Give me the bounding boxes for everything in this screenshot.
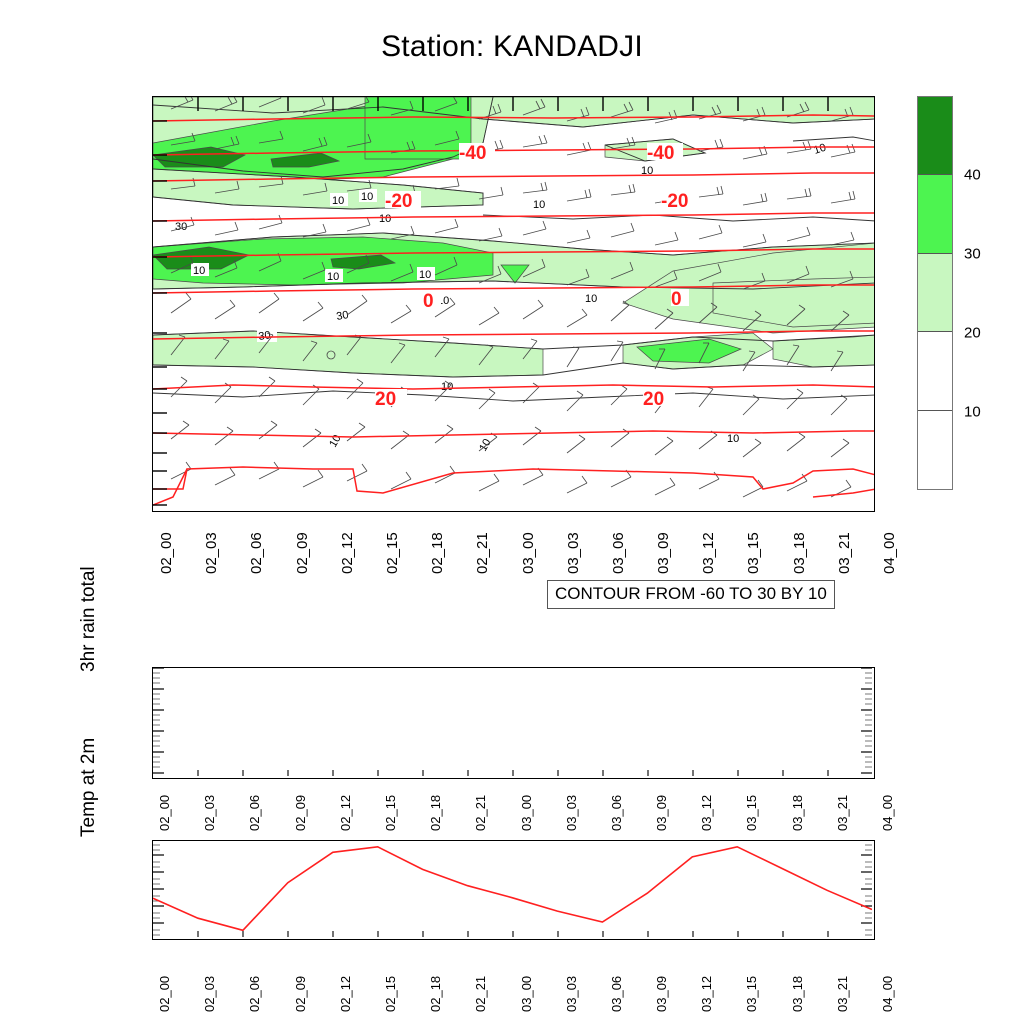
temp-2m-panel [152, 840, 875, 940]
rain-axis-title: 3hr rain total [78, 566, 100, 672]
svg-text:-40: -40 [459, 143, 486, 164]
temp-x-tick-label: 02_03 [202, 976, 217, 1012]
sounding-cross-section-panel: 30 30 30 10 10 10 10 10 10 [152, 96, 875, 512]
temp-x-tick-label: 03_00 [519, 976, 534, 1012]
rain-x-tick-label: 02_09 [293, 795, 308, 831]
page-title: Station: KANDADJI [0, 30, 1024, 64]
temp-x-tick-label: 02_21 [473, 976, 488, 1012]
main-x-tick-label: 03_15 [745, 532, 762, 574]
cross-section-plot-area: 30 30 30 10 10 10 10 10 10 [153, 97, 874, 511]
svg-text:-20: -20 [661, 191, 688, 212]
svg-text:30: 30 [335, 309, 349, 323]
temp-x-tick-label: 02_15 [383, 976, 398, 1012]
rain-x-tick-label: 03_12 [699, 795, 714, 831]
rain-right-minor-ticks [865, 673, 872, 767]
svg-text:30: 30 [258, 329, 272, 343]
temp-right-minor-ticks [865, 845, 872, 935]
main-x-tick-label: 02_18 [429, 532, 446, 574]
rain-x-tick-label: 03_09 [654, 795, 669, 831]
temp-x-tick-label: 02_12 [338, 976, 353, 1012]
svg-text:0: 0 [423, 291, 434, 312]
rain-x-tick-label: 03_03 [564, 795, 579, 831]
rain-x-tick-label: 03_18 [790, 795, 805, 831]
rain-x-tick-label: 03_00 [519, 795, 534, 831]
rain-x-tick-label: 02_18 [428, 795, 443, 831]
main-x-tick-label: 03_03 [565, 532, 582, 574]
rain-left-minor-ticks [153, 673, 160, 767]
rain-x-tick-label: 02_06 [247, 795, 262, 831]
temp-plot-svg [153, 841, 872, 937]
cross-section-svg: 30 30 30 10 10 10 10 10 10 [153, 97, 874, 511]
main-x-tick-label: 03_18 [791, 532, 808, 574]
svg-text:-20: -20 [385, 191, 412, 212]
rain-x-tick-label: 04_00 [880, 795, 895, 831]
svg-text:-40: -40 [647, 143, 674, 164]
rain-x-tick-label: 03_06 [609, 795, 624, 831]
rain-total-panel [152, 667, 875, 779]
main-x-tick-label: 03_06 [610, 532, 627, 574]
temp-x-tick-label: 02_06 [247, 976, 262, 1012]
shade-region-mid [365, 97, 471, 159]
temp-axis-title: Temp at 2m [78, 738, 100, 837]
main-x-tick-label: 03_09 [655, 532, 672, 574]
main-x-tick-label: 04_00 [881, 532, 898, 574]
temp-bottom-ticks [198, 931, 828, 937]
main-x-tick-label: 02_12 [339, 532, 356, 574]
main-x-tick-label: 02_09 [294, 532, 311, 574]
main-x-tick-label: 03_21 [836, 532, 853, 574]
color-band-40plus [918, 97, 952, 175]
svg-text:10: 10 [327, 271, 339, 283]
rain-x-tick-label: 02_03 [202, 795, 217, 831]
svg-text:10: 10 [585, 293, 597, 305]
color-band-30-40 [918, 175, 952, 253]
svg-text:20: 20 [643, 389, 664, 410]
temp-x-tick-label: 04_00 [880, 976, 895, 1012]
main-x-tick-label: 03_00 [520, 532, 537, 574]
rain-plot-svg [153, 668, 872, 776]
main-x-tick-label: 02_03 [203, 532, 220, 574]
main-x-tick-label: 02_00 [158, 532, 175, 574]
temp-x-tick-label: 02_18 [428, 976, 443, 1012]
svg-text:10: 10 [361, 191, 373, 203]
color-band-10-20 [918, 332, 952, 410]
main-x-tick-label: 03_12 [700, 532, 717, 574]
svg-text:10: 10 [193, 265, 205, 277]
rain-x-tick-label: 02_21 [473, 795, 488, 831]
temp-x-tick-label: 03_21 [835, 976, 850, 1012]
svg-text:10: 10 [379, 213, 391, 225]
temp-x-tick-label: 03_09 [654, 976, 669, 1012]
temp-x-tick-label: 02_00 [157, 976, 172, 1012]
rain-x-tick-label: 02_12 [338, 795, 353, 831]
svg-text:10: 10 [419, 269, 431, 281]
svg-text:10: 10 [727, 433, 739, 445]
colorbar-tick-label: 40 [964, 167, 981, 184]
color-band-below10 [918, 411, 952, 489]
rain-bottom-ticks [198, 770, 828, 776]
main-x-tick-label: 02_06 [248, 532, 265, 574]
colorbar-tick-label: 30 [964, 246, 981, 263]
colorbar-tick-label: 20 [964, 325, 981, 342]
rain-x-tick-label: 03_21 [835, 795, 850, 831]
svg-text:20: 20 [375, 389, 396, 410]
svg-text:0: 0 [671, 289, 682, 310]
contour-range-legend: CONTOUR FROM -60 TO 30 BY 10 [547, 580, 835, 609]
rain-x-tick-label: 03_15 [744, 795, 759, 831]
svg-text:10: 10 [533, 199, 545, 211]
color-band-20-30 [918, 254, 952, 332]
main-x-tick-label: 02_21 [474, 532, 491, 574]
temp-x-tick-label: 02_09 [293, 976, 308, 1012]
rain-x-tick-label: 02_00 [157, 795, 172, 831]
temp-x-tick-label: 03_03 [564, 976, 579, 1012]
temp-left-minor-ticks [153, 845, 160, 935]
svg-text:10: 10 [332, 195, 344, 207]
colorbar-tick-label: 10 [964, 404, 981, 421]
color-scale-bar [917, 96, 953, 490]
main-x-tick-label: 02_15 [384, 532, 401, 574]
temp-x-tick-label: 03_18 [790, 976, 805, 1012]
temp-x-tick-label: 03_15 [744, 976, 759, 1012]
rain-x-tick-label: 02_15 [383, 795, 398, 831]
temp-x-tick-label: 03_06 [609, 976, 624, 1012]
temp-2m-series [153, 847, 872, 931]
temp-x-tick-label: 03_12 [699, 976, 714, 1012]
